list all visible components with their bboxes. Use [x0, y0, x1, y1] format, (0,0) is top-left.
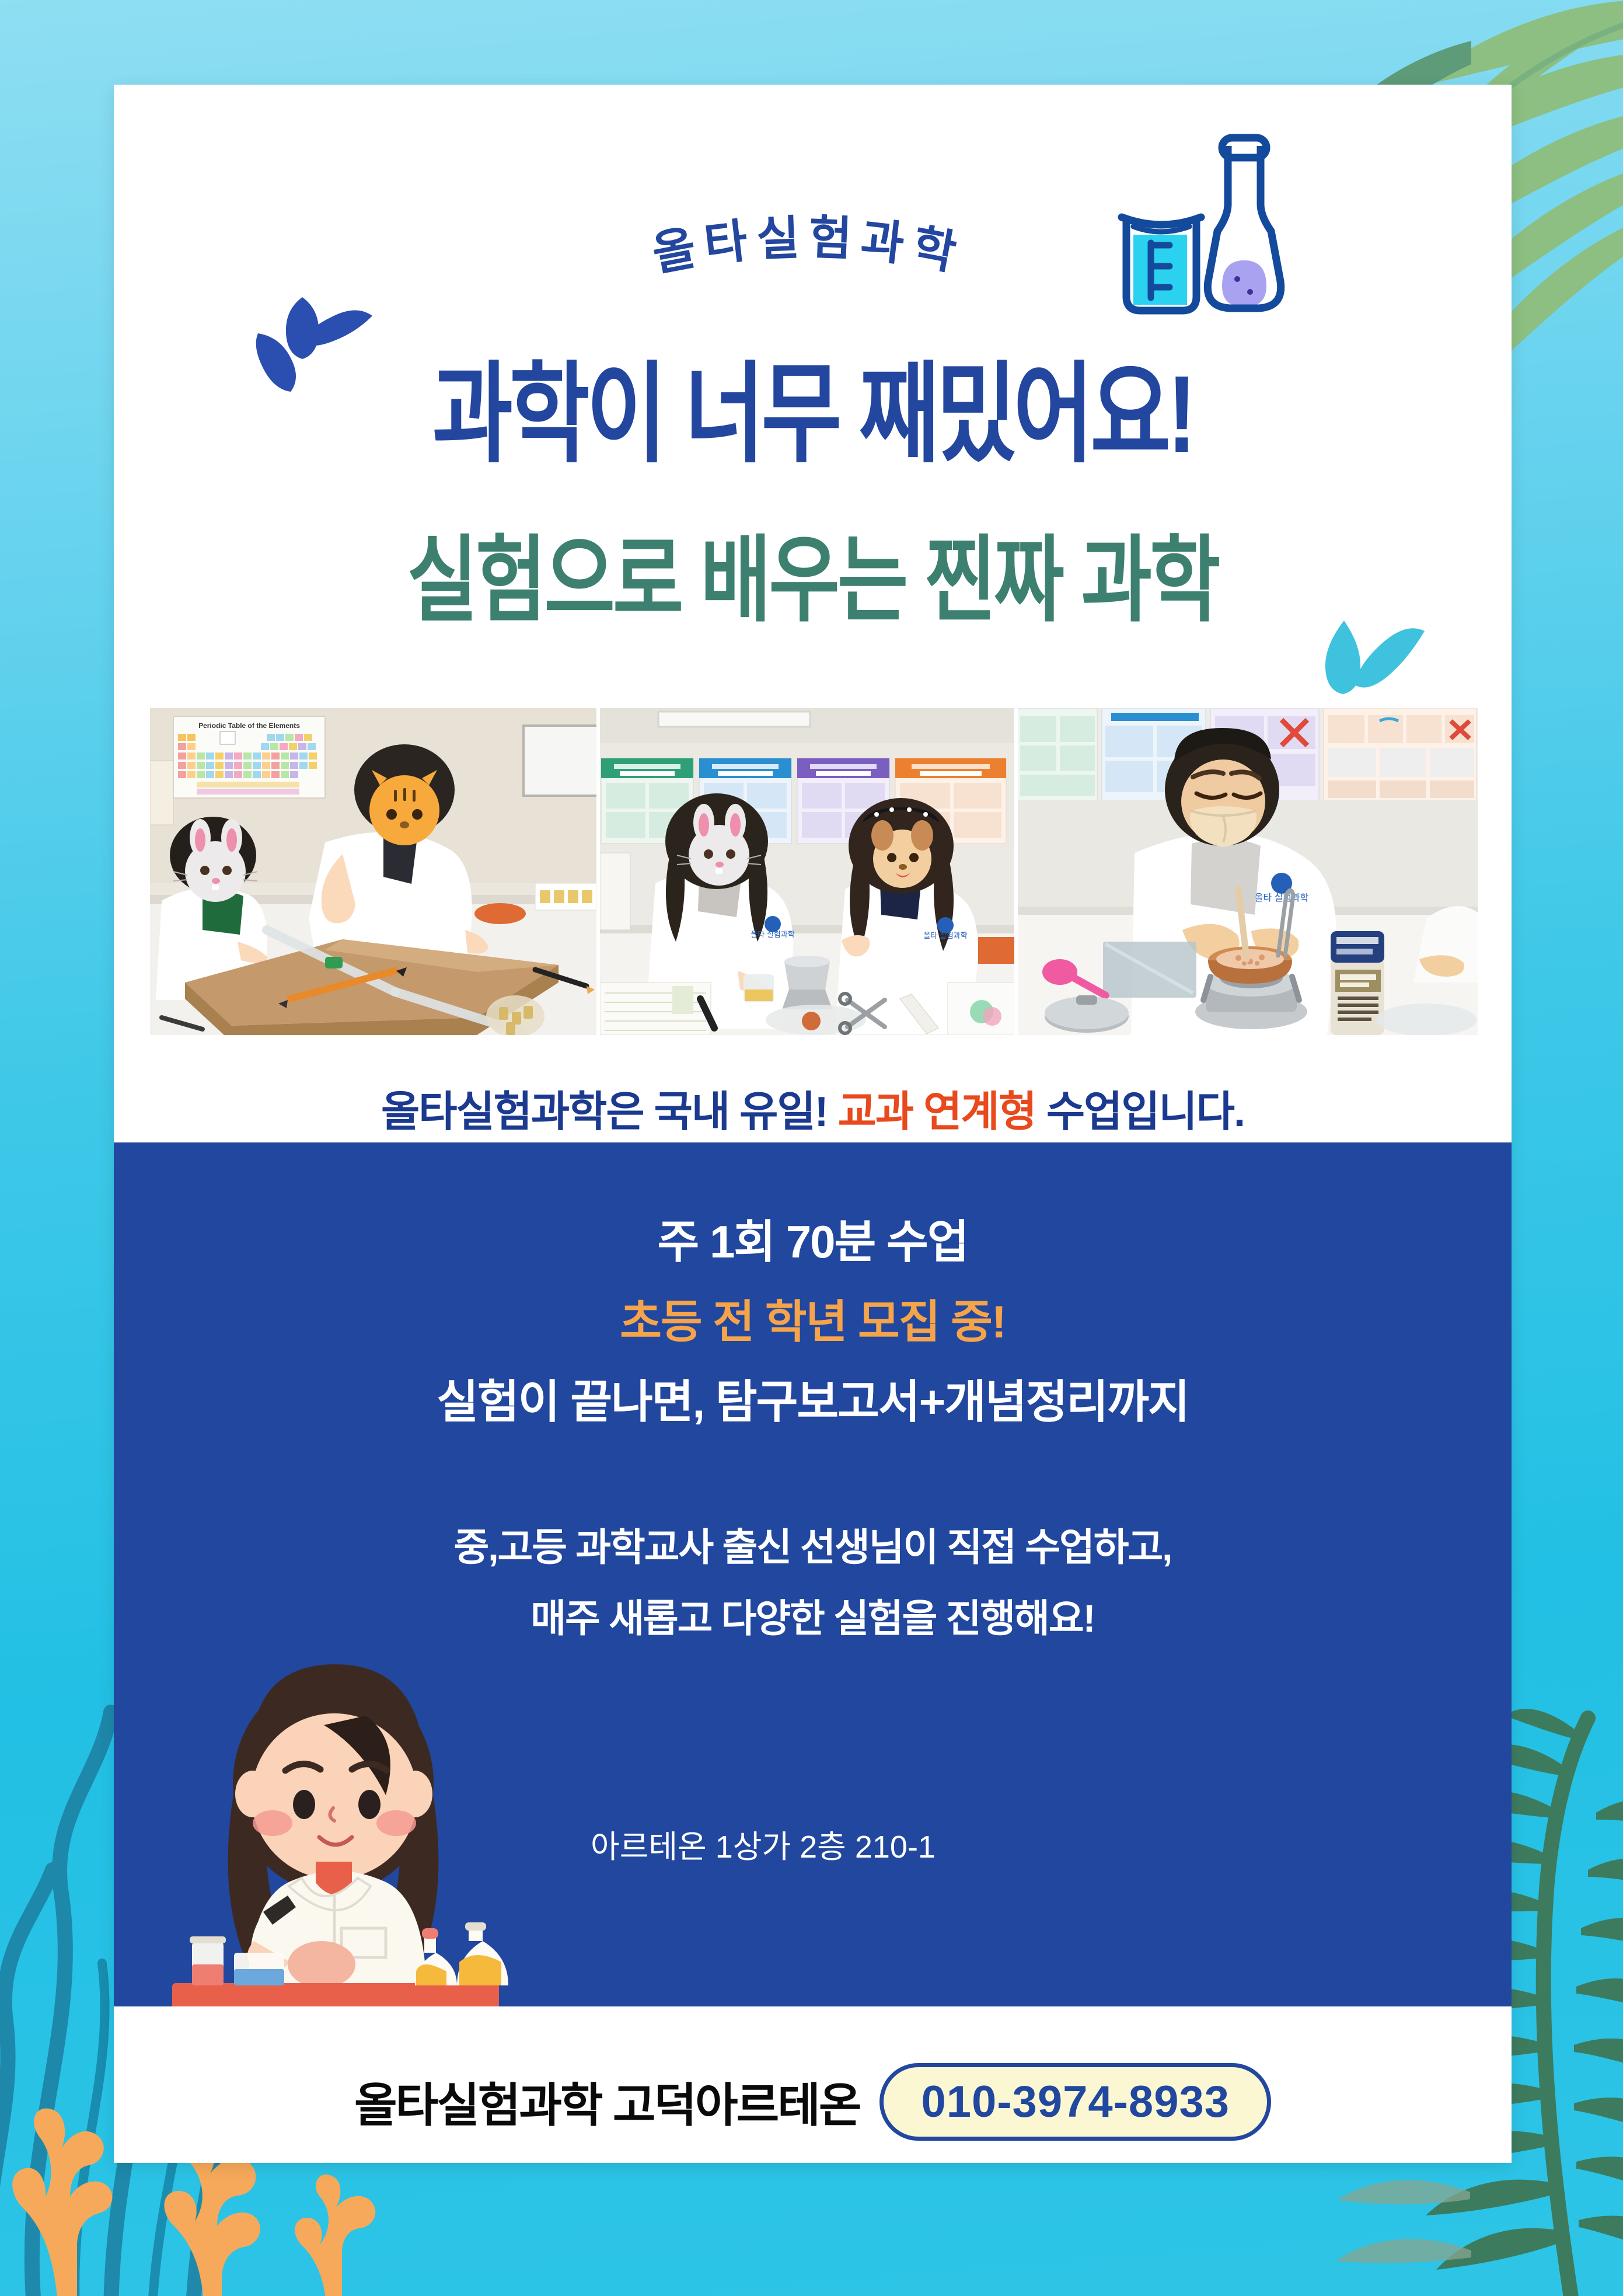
info-line-5: 매주 새롭고 다양한 실험을 진행해요! — [114, 1587, 1512, 1643]
beaker-flask-icon — [1097, 128, 1290, 321]
info-line-3: 실험이 끝나면, 탐구보고서+개념정리까지 — [114, 1365, 1512, 1431]
caption-line: 올타실험과학은 국내 유일! 교과 연계형 수업입니다. — [114, 1077, 1512, 1138]
headline-primary: 과학이 너무 째밌어요! — [114, 326, 1512, 484]
info-line-2: 초등 전 학년 모집 중! — [114, 1285, 1512, 1351]
caption-after: 수업입니다. — [1036, 1089, 1244, 1135]
caption-before: 올타실험과학은 국내 유일! — [381, 1089, 838, 1135]
branch-name: 올타실험과학 고덕아르테온 — [354, 2068, 860, 2135]
info-panel: 주 1회 70분 수업 초등 전 학년 모집 중! 실험이 끝나면, 탐구보고서… — [114, 1142, 1512, 2006]
info-line-4: 중,고등 과학교사 출신 선생님이 직접 수업하고, — [114, 1516, 1512, 1572]
svg-text:올타 실험과학: 올타 실험과학 — [751, 930, 794, 939]
classroom-photo-strip: Periodic Table of the Elements — [150, 708, 1478, 1035]
classroom-photo-3: 올타 실험과학 — [1018, 708, 1478, 1035]
phone-number-badge[interactable]: 010-3974-8933 — [879, 2063, 1271, 2141]
info-line-1: 주 1회 70분 수업 — [114, 1206, 1512, 1271]
svg-text:올타 실험과학: 올타 실험과학 — [923, 931, 967, 940]
svg-text:올타 실험과학: 올타 실험과학 — [1255, 893, 1309, 903]
brand-arc-title: 올타실험과학 — [648, 211, 968, 280]
poster-card: 올타실험과학 과학이 너무 째밌어요! 실험으로 배우는 찐짜 과학 — [114, 85, 1512, 2163]
classroom-photo-2: 올타 실험과학 올 — [600, 708, 1014, 1035]
caption-highlight: 교과 연계형 — [838, 1089, 1036, 1135]
footer-bar: 올타실험과학 고덕아르테온 010-3974-8933 — [114, 2040, 1512, 2163]
classroom-photo-1: Periodic Table of the Elements — [150, 708, 596, 1035]
scientist-girl-illustration — [149, 1637, 522, 2006]
svg-text:Periodic Table of the Elements: Periodic Table of the Elements — [198, 722, 300, 730]
headline-secondary: 실험으로 배우는 찐짜 과학 — [114, 504, 1512, 640]
